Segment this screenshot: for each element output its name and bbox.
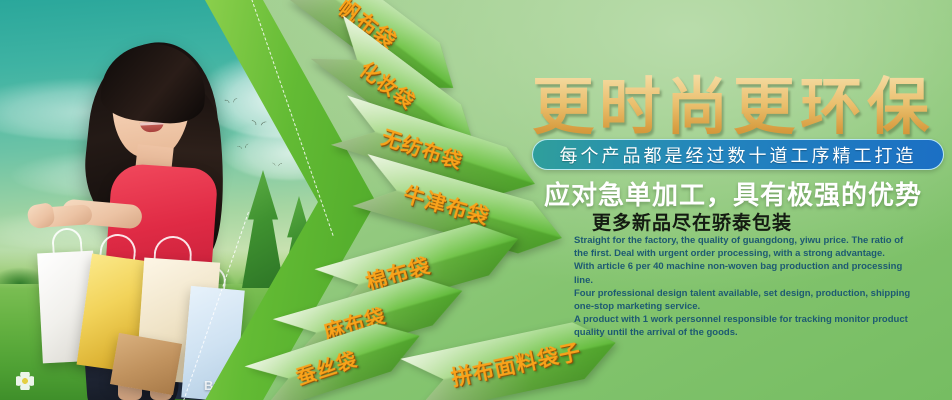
- description-line: quality until the arrival of the goods.: [574, 326, 934, 339]
- shopping-bag-kraft: [110, 333, 182, 395]
- sub-headline: 应对急单加工，具有极强的优势: [544, 175, 922, 212]
- description-line: the first. Deal with urgent order proces…: [574, 247, 934, 260]
- hair-front: [99, 40, 209, 127]
- description-paragraph: Straight for the factory, the quality of…: [574, 234, 934, 340]
- description-line: Four professional design talent availabl…: [574, 287, 934, 300]
- main-headline: 更时尚更环保: [532, 56, 934, 146]
- tagline: 更多新品尽在骄泰包装: [592, 208, 792, 235]
- description-line: With article 6 per 40 machine non-woven …: [574, 260, 934, 273]
- daisy-flower: [16, 372, 34, 390]
- promo-banner: By 帆布袋 化妆袋 无纺布袋 牛津布袋 棉布袋 麻布袋 蚕丝袋 拼布面料袋子 …: [0, 0, 952, 400]
- description-line: A product with 1 work personnel responsi…: [574, 313, 934, 326]
- description-line: one-stop marketing service.: [574, 300, 934, 313]
- description-line: Straight for the factory, the quality of…: [574, 234, 934, 247]
- description-line: line.: [574, 274, 934, 287]
- pill-banner-label: 每个产品都是经过数十道工序精工打造: [560, 142, 917, 168]
- copy-block: 更时尚更环保 每个产品都是经过数十道工序精工打造 应对急单加工，具有极强的优势 …: [522, 0, 952, 400]
- pill-banner: 每个产品都是经过数十道工序精工打造: [532, 139, 944, 170]
